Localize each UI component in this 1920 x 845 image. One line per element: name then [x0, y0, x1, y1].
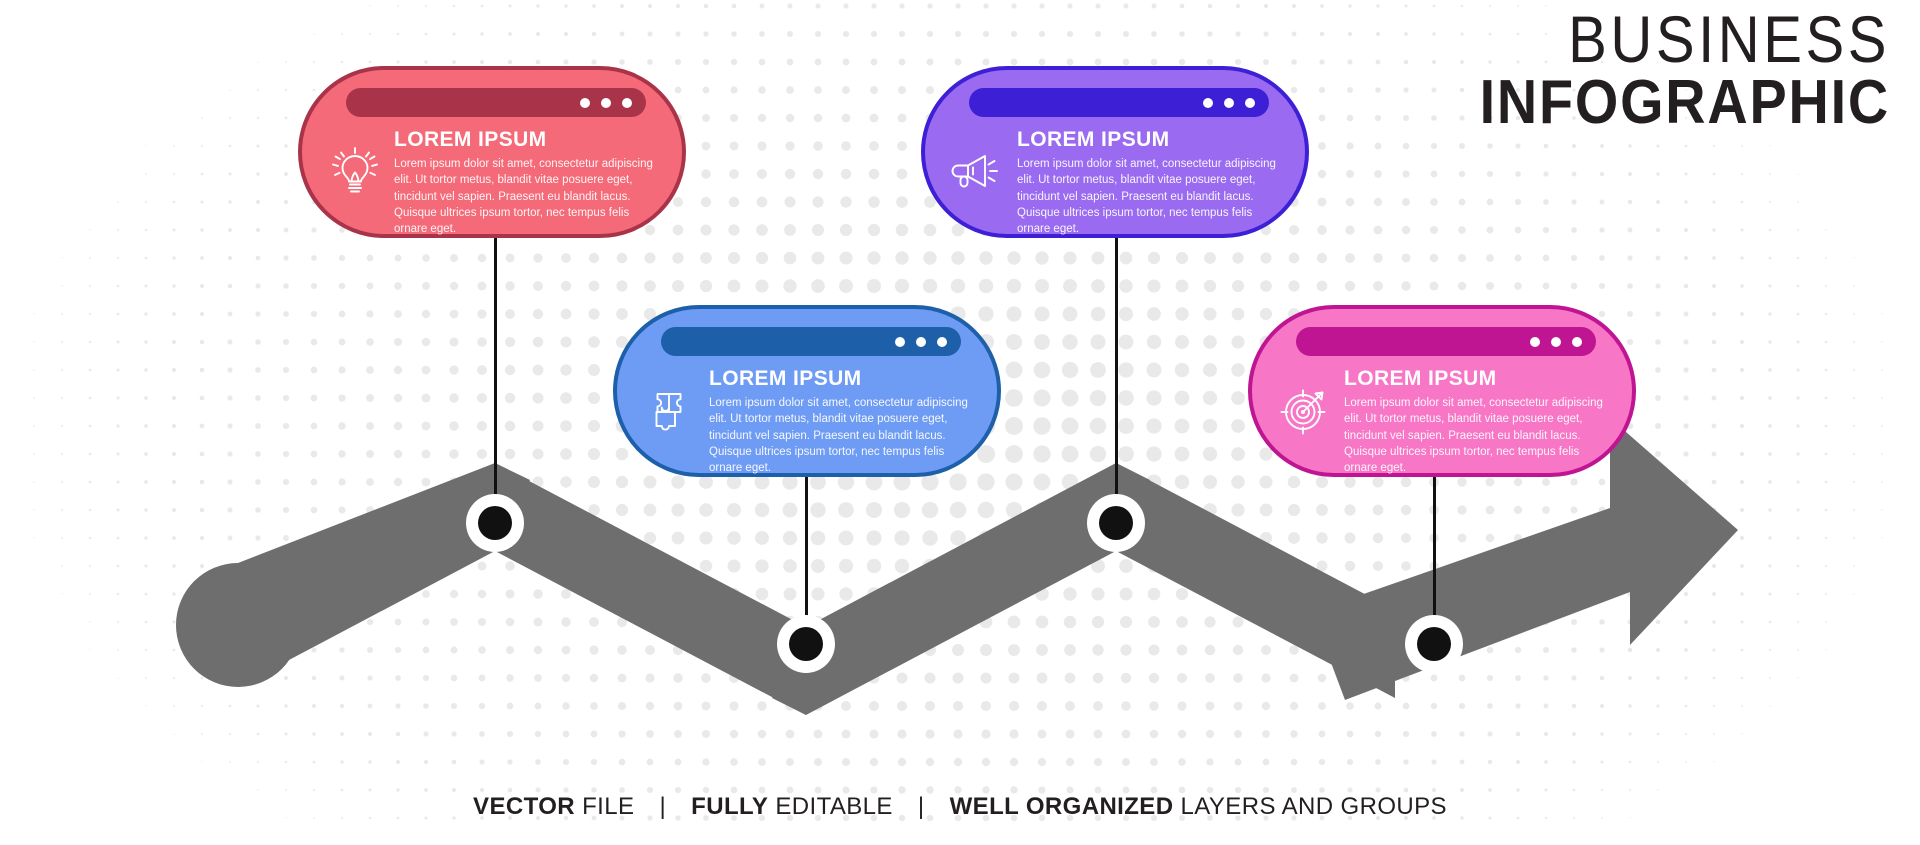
card-description-1: Lorem ipsum dolor sit amet, consectetur … — [394, 156, 662, 238]
card-titlebar-1 — [346, 88, 646, 117]
card-description-2: Lorem ipsum dolor sit amet, consectetur … — [709, 395, 977, 477]
card-text-4: LOREM IPSUMLorem ipsum dolor sit amet, c… — [1344, 365, 1612, 477]
footer-vector-bold: VECTOR — [473, 793, 575, 820]
card-description-4: Lorem ipsum dolor sit amet, consectetur … — [1344, 395, 1612, 477]
card-text-2: LOREM IPSUMLorem ipsum dolor sit amet, c… — [709, 365, 977, 477]
card-title-2: LOREM IPSUM — [709, 367, 977, 390]
step-node-dot-1 — [478, 506, 512, 540]
card-text-1: LOREM IPSUMLorem ipsum dolor sit amet, c… — [394, 126, 662, 238]
titlebar-dot-1 — [580, 98, 590, 108]
connector-line-3 — [1115, 238, 1118, 523]
titlebar-dot-3 — [937, 337, 947, 347]
step-node-4[interactable] — [1405, 615, 1463, 673]
step-node-2[interactable] — [777, 615, 835, 673]
connector-line-1 — [494, 238, 497, 523]
footer-note: VECTOR FILE | FULLY EDITABLE | WELL ORGA… — [0, 793, 1920, 821]
footer-organized-bold: WELL ORGANIZED — [950, 793, 1174, 820]
titlebar-dot-1 — [1530, 337, 1540, 347]
puzzle-icon — [641, 375, 699, 445]
info-card-2[interactable]: LOREM IPSUMLorem ipsum dolor sit amet, c… — [613, 305, 1001, 477]
infographic-canvas: BUSINESS INFOGRAPHIC LOREM IPSUMLorem ip… — [0, 0, 1920, 845]
footer-vector-rest: FILE — [575, 793, 634, 820]
lightbulb-icon — [326, 136, 384, 206]
step-node-dot-4 — [1417, 627, 1451, 661]
titlebar-dot-2 — [1551, 337, 1561, 347]
titlebar-dot-1 — [1203, 98, 1213, 108]
card-title-4: LOREM IPSUM — [1344, 367, 1612, 390]
titlebar-dot-1 — [895, 337, 905, 347]
info-card-3[interactable]: LOREM IPSUMLorem ipsum dolor sit amet, c… — [921, 66, 1309, 238]
titlebar-dot-2 — [1224, 98, 1234, 108]
titlebar-dot-2 — [601, 98, 611, 108]
card-text-3: LOREM IPSUMLorem ipsum dolor sit amet, c… — [1017, 126, 1285, 238]
card-body-1: LOREM IPSUMLorem ipsum dolor sit amet, c… — [326, 126, 662, 220]
footer-fully-rest: EDITABLE — [768, 793, 893, 820]
card-titlebar-4 — [1296, 327, 1596, 356]
card-titlebar-2 — [661, 327, 961, 356]
title-line-infographic: INFOGRAPHIC — [1480, 74, 1890, 132]
titlebar-dot-3 — [622, 98, 632, 108]
footer-separator-1: | — [659, 793, 666, 821]
page-title: BUSINESS INFOGRAPHIC — [1434, 8, 1890, 132]
card-body-2: LOREM IPSUMLorem ipsum dolor sit amet, c… — [641, 365, 977, 459]
step-node-dot-3 — [1099, 506, 1133, 540]
step-node-1[interactable] — [466, 494, 524, 552]
card-titlebar-3 — [969, 88, 1269, 117]
card-body-3: LOREM IPSUMLorem ipsum dolor sit amet, c… — [949, 126, 1285, 220]
info-card-1[interactable]: LOREM IPSUMLorem ipsum dolor sit amet, c… — [298, 66, 686, 238]
megaphone-icon — [949, 136, 1007, 206]
titlebar-dot-2 — [916, 337, 926, 347]
step-node-dot-2 — [789, 627, 823, 661]
title-line-business: BUSINESS — [1489, 8, 1890, 70]
titlebar-dot-3 — [1572, 337, 1582, 347]
card-description-3: Lorem ipsum dolor sit amet, consectetur … — [1017, 156, 1285, 238]
card-title-1: LOREM IPSUM — [394, 128, 662, 151]
footer-fully-bold: FULLY — [691, 793, 768, 820]
step-node-3[interactable] — [1087, 494, 1145, 552]
target-icon — [1276, 375, 1334, 445]
footer-organized-rest: LAYERS AND GROUPS — [1173, 793, 1447, 820]
card-body-4: LOREM IPSUMLorem ipsum dolor sit amet, c… — [1276, 365, 1612, 459]
footer-separator-2: | — [918, 793, 925, 821]
titlebar-dot-3 — [1245, 98, 1255, 108]
info-card-4[interactable]: LOREM IPSUMLorem ipsum dolor sit amet, c… — [1248, 305, 1636, 477]
card-title-3: LOREM IPSUM — [1017, 128, 1285, 151]
